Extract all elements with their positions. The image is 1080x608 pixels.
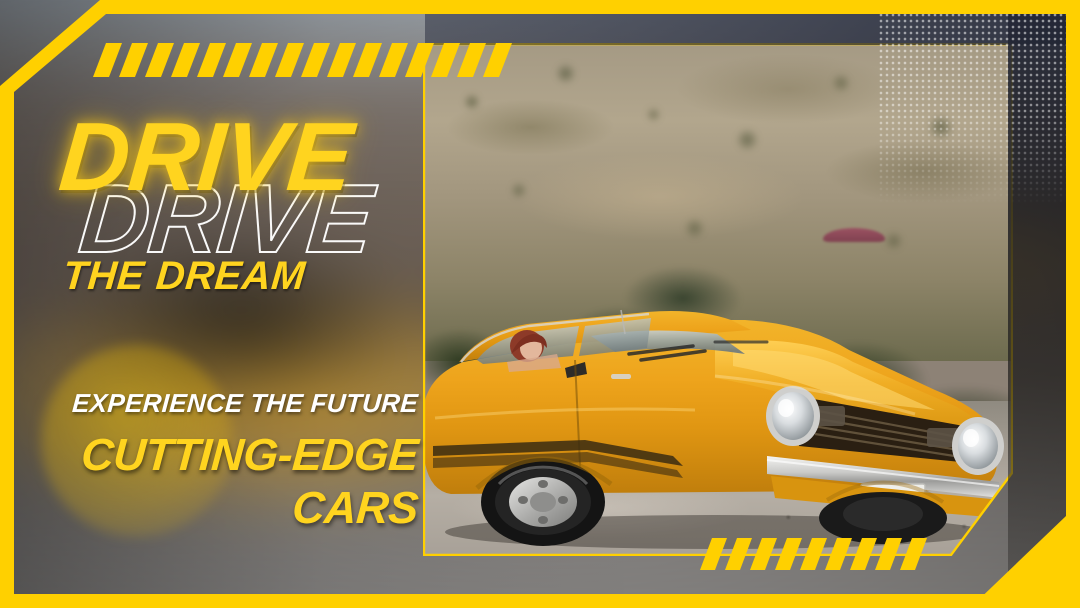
headlight-left (766, 386, 820, 446)
sub-headline-block: EXPERIENCE THE FUTURE CUTTING-EDGE CARS (0, 390, 422, 530)
drive-filled-text: DRIVE (56, 108, 356, 205)
cutting-edge-text: CUTTING-EDGE (0, 432, 420, 477)
drive-wordmark: DRIVE DRIVE THE DREAM (60, 108, 420, 258)
photo-scene (425, 45, 1011, 554)
stripe-band-top (93, 43, 513, 77)
experience-the-future-text: EXPERIENCE THE FUTURE (0, 390, 419, 416)
headline-block: DRIVE DRIVE THE DREAM (60, 108, 420, 258)
cars-text: CARS (0, 485, 420, 530)
stripe-band-bottom (700, 538, 932, 570)
poster-canvas: DRIVE DRIVE THE DREAM EXPERIENCE THE FUT… (0, 0, 1080, 608)
hero-photo (425, 45, 1011, 554)
front-wheel (819, 492, 947, 544)
classic-car (425, 250, 1011, 550)
headlight-right (952, 417, 1004, 475)
